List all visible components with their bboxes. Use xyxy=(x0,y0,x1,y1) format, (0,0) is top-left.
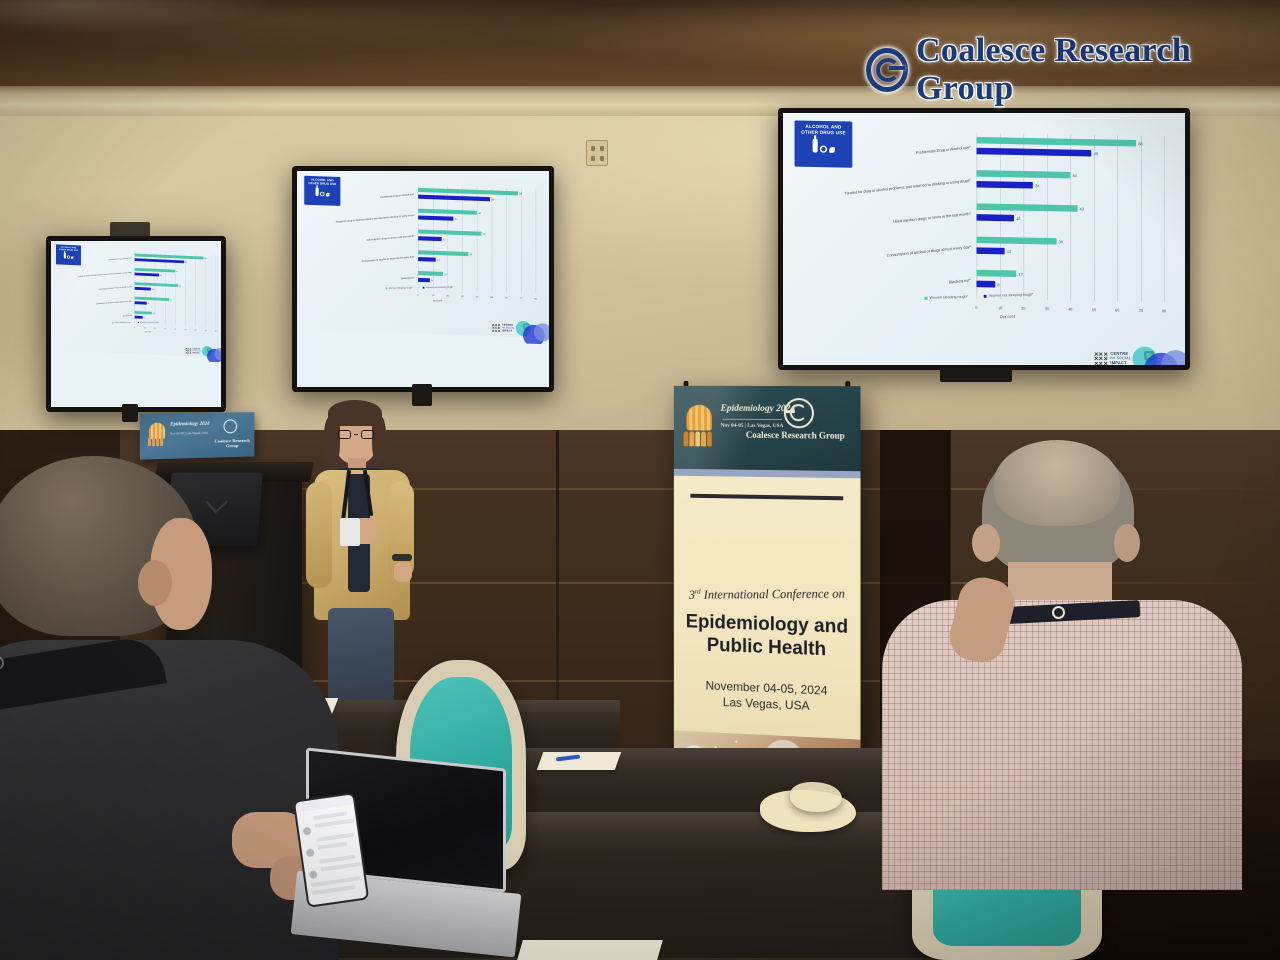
watermark-brand-text: Coalesce Research Group xyxy=(916,32,1280,108)
conference-banner: Epidemiology 2024 Nov 04-05 | Las Vegas,… xyxy=(674,386,861,783)
display-right: ALCOHOL ANDOTHER DRUG USE Problematic Dr… xyxy=(778,108,1190,370)
crg-monogram-icon xyxy=(866,48,908,92)
display-center: ALCOHOL ANDOTHER DRUG USE Problematic Dr… xyxy=(292,166,554,392)
crg-monogram-icon xyxy=(224,419,238,433)
podium-banner-subtitle: Nov 04-05 | Las Vegas, USA xyxy=(170,431,218,436)
wall-outlet-plate xyxy=(586,140,608,166)
podium-banner-brand: Coalesce Research Group xyxy=(212,438,253,449)
podium-banner-event: Epidemiology 2024 xyxy=(170,422,214,428)
conference-photo: ALCOHOL ANDOTHER DRUG USE Problematic Dr… xyxy=(0,0,1280,960)
epidemiology-dome-logo xyxy=(149,423,165,439)
crg-monogram-icon xyxy=(784,398,814,428)
attendee-shirt xyxy=(882,600,1242,890)
banner-conference-line: 3rd International Conference on xyxy=(674,586,861,603)
watermark-logo: Coalesce Research Group xyxy=(866,32,1280,108)
banner-date-location: November 04-05, 2024 Las Vegas, USA xyxy=(674,676,861,717)
banner-title: Epidemiology and Public Health xyxy=(674,610,861,663)
attendee-front-right xyxy=(876,428,1248,888)
epidemiology-dome-logo xyxy=(684,405,715,447)
banner-brand: Coalesce Research Group xyxy=(736,430,854,441)
glasses xyxy=(338,430,374,439)
display-left: ALCOHOL ANDOTHER DRUG USE Problematic Dr… xyxy=(46,236,226,412)
